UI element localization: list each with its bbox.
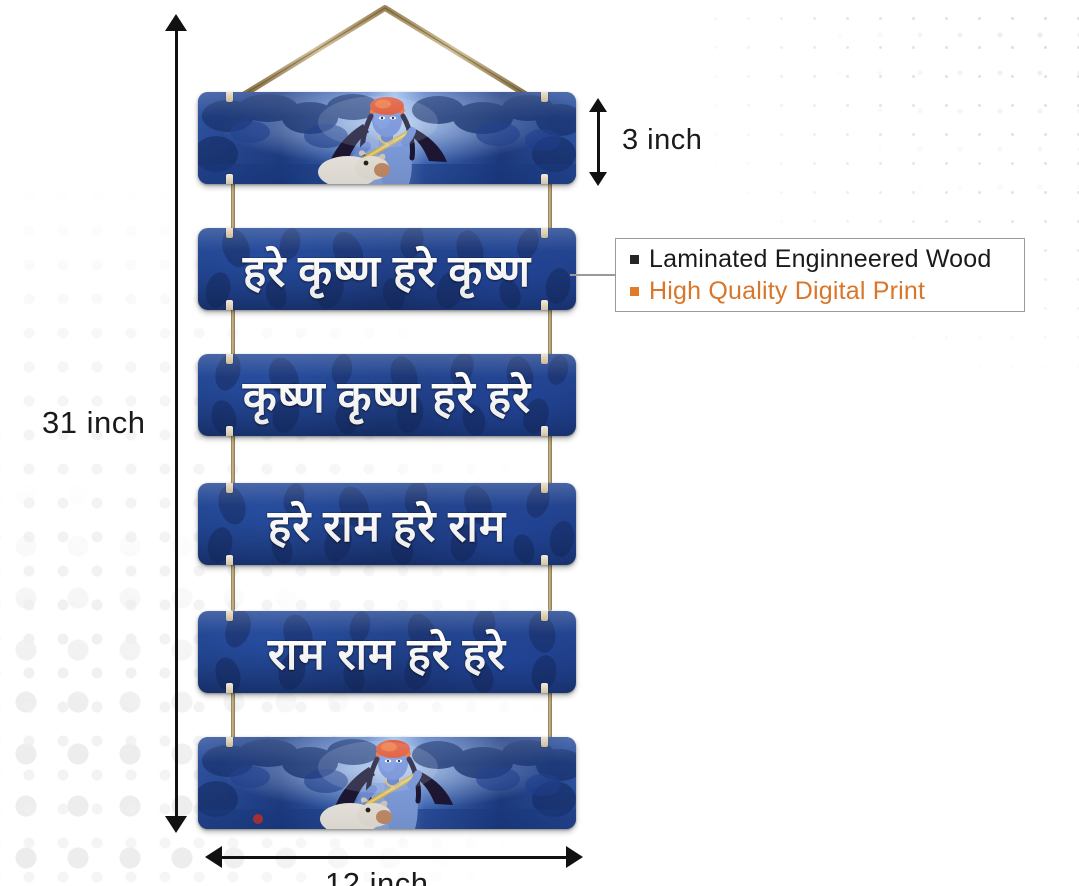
rope-connector — [231, 563, 235, 611]
rope-peg — [226, 300, 233, 310]
feature-row-material: Laminated Enginneered Wood — [630, 245, 1014, 274]
rope-hanger-icon — [205, 0, 580, 105]
dimension-label-height: 31 inch — [42, 405, 145, 441]
dimension-line-width — [221, 856, 566, 859]
rope-connector — [231, 691, 235, 739]
rope-connector — [548, 691, 552, 739]
width-arrow-head-right — [566, 846, 583, 868]
krishna-flute-illustration — [198, 737, 576, 829]
rope-peg — [226, 174, 233, 184]
board-mantra-text: राम राम हरे हरे — [198, 611, 576, 693]
rope-connector — [231, 435, 235, 485]
board-krishna-top[interactable] — [198, 92, 576, 184]
rope-peg — [541, 737, 548, 747]
rope-connector — [231, 308, 235, 356]
feature-row-print: High Quality Digital Print — [630, 277, 1014, 306]
rope-peg — [541, 300, 548, 310]
board-mantra-line-4[interactable]: राम राम हरे हरे — [198, 611, 576, 693]
rope-peg — [226, 426, 233, 436]
rope-peg — [541, 92, 548, 102]
rope-peg — [541, 483, 548, 493]
rope-peg — [226, 737, 233, 747]
rope-peg — [541, 611, 548, 621]
rope-peg — [541, 426, 548, 436]
board-mantra-line-1[interactable]: हरे कृष्ण हरे कृष्ण — [198, 228, 576, 310]
feature-label-material: Laminated Enginneered Wood — [649, 245, 991, 274]
plank-height-arrow-head-bottom — [589, 172, 607, 186]
dimension-line-height — [175, 28, 178, 816]
rope-peg — [541, 174, 548, 184]
rope-peg — [226, 92, 233, 102]
product-dimension-infographic: हरे कृष्ण हरे कृष्ण — [0, 0, 1079, 886]
krishna-flute-illustration — [198, 92, 576, 184]
rope-peg — [226, 555, 233, 565]
board-mantra-text: हरे कृष्ण हरे कृष्ण — [198, 228, 576, 310]
rope-peg — [226, 611, 233, 621]
board-krishna-bottom[interactable] — [198, 737, 576, 829]
rope-peg — [226, 483, 233, 493]
board-mantra-line-2[interactable]: कृष्ण कृष्ण हरे हरे — [198, 354, 576, 436]
rope-peg — [226, 683, 233, 693]
board-mantra-line-3[interactable]: हरे राम हरे राम — [198, 483, 576, 565]
rope-peg — [541, 354, 548, 364]
bullet-square-icon — [630, 255, 639, 264]
callout-leader-line — [570, 274, 616, 276]
rope-peg — [226, 354, 233, 364]
dimension-label-width: 12 inch — [325, 866, 428, 886]
rope-peg — [541, 683, 548, 693]
rope-connector — [231, 178, 235, 230]
dimension-label-plank-height: 3 inch — [622, 124, 702, 157]
width-arrow-head-left — [205, 846, 222, 868]
plank-height-line — [597, 110, 600, 172]
dimension-arrow-head-bottom — [165, 816, 187, 833]
rope-connector — [548, 435, 552, 485]
rope-peg — [541, 555, 548, 565]
rope-connector — [548, 563, 552, 611]
board-mantra-text: हरे राम हरे राम — [198, 483, 576, 565]
rope-peg — [226, 228, 233, 238]
feature-label-print: High Quality Digital Print — [649, 277, 925, 306]
rope-peg — [541, 228, 548, 238]
rope-connector — [548, 308, 552, 356]
rope-connector — [548, 178, 552, 230]
board-mantra-text: कृष्ण कृष्ण हरे हरे — [198, 354, 576, 436]
features-callout: Laminated Enginneered Wood High Quality … — [615, 238, 1025, 312]
bullet-square-icon — [630, 287, 639, 296]
